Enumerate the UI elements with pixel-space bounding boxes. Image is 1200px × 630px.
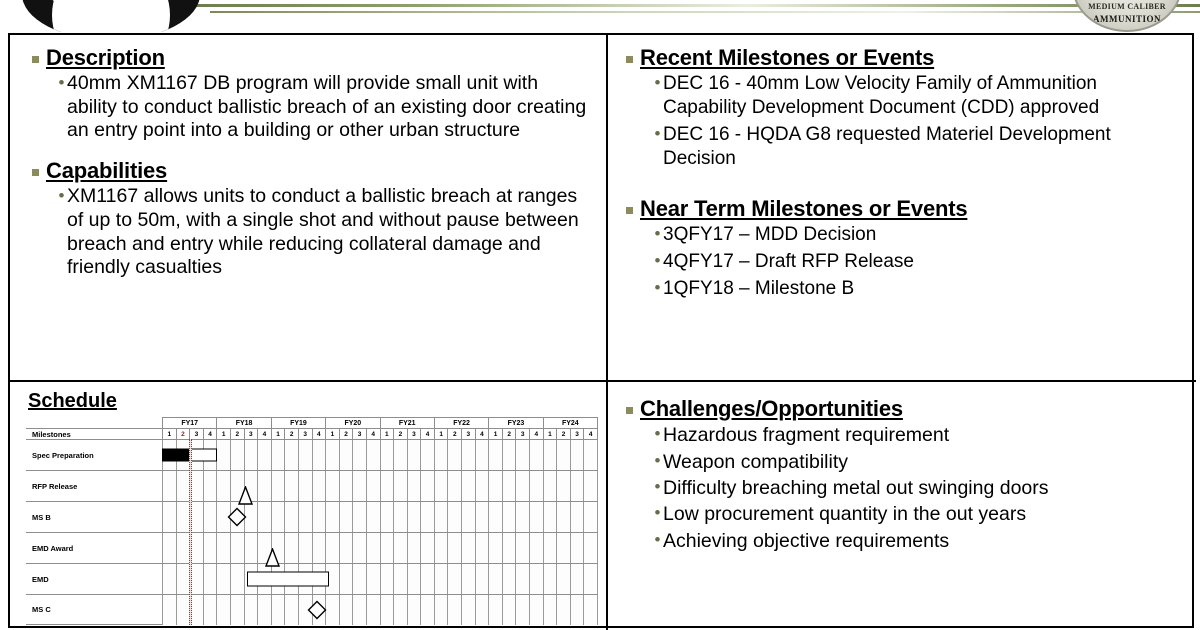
challenges-title: Challenges/Opportunities [640, 396, 903, 421]
seal-arc-label: ver Ammunition S [43, 0, 143, 19]
banner-stripe [195, 4, 1200, 7]
gantt-quarter-label: 2 [339, 428, 353, 439]
gantt-gridline [515, 564, 529, 594]
gantt-gridline [583, 440, 598, 470]
gantt-gridline [583, 471, 598, 501]
gantt-gridline [284, 502, 298, 532]
gantt-gridline [529, 533, 543, 563]
list-item: • 4QFY17 – Draft RFP Release [652, 250, 1184, 274]
panel-challenges: Challenges/Opportunities • Hazardous fra… [608, 382, 1194, 628]
description-bullet-list: • 40mm XM1167 DB program will provide sm… [32, 72, 592, 143]
gantt-gridline [475, 533, 489, 563]
gantt-gridline [529, 440, 543, 470]
gantt-quarter-label: 1 [434, 428, 448, 439]
gantt-gridline [162, 471, 176, 501]
gantt-quarter-label: 4 [529, 428, 543, 439]
gantt-gridline [352, 440, 366, 470]
round-bullet-icon: • [652, 123, 663, 144]
gantt-gridline [407, 471, 421, 501]
gantt-gridline [556, 595, 570, 625]
gantt-gridline [407, 533, 421, 563]
gantt-gridline [407, 502, 421, 532]
gantt-gridline [176, 595, 190, 625]
gantt-gridline [352, 564, 366, 594]
gantt-track-ms-b [162, 501, 598, 532]
gantt-quarter-label: 3 [189, 428, 203, 439]
list-item: • 1QFY18 – Milestone B [652, 277, 1184, 301]
square-bullet-icon [626, 207, 633, 214]
gantt-gridline [461, 564, 475, 594]
gantt-gridline [176, 471, 190, 501]
gantt-gridline [502, 471, 516, 501]
gantt-quarter-label: 2 [176, 428, 190, 439]
gantt-quarter-label: 2 [502, 428, 516, 439]
gantt-gridline [312, 533, 326, 563]
gantt-quarter-label: 4 [583, 428, 598, 439]
gantt-gridline [556, 471, 570, 501]
gantt-gridline [176, 564, 190, 594]
gantt-gridline [393, 595, 407, 625]
gantt-quarter-label: 3 [352, 428, 366, 439]
gantt-gridline [488, 595, 502, 625]
gantt-gridline [529, 471, 543, 501]
near-term-title: Near Term Milestones or Events [640, 196, 967, 221]
square-bullet-icon [626, 56, 633, 63]
gantt-label-ms-b: MS B [26, 501, 162, 532]
gantt-gridline [502, 533, 516, 563]
gantt-track-emd [162, 563, 598, 594]
gantt-label-spacer [26, 417, 162, 428]
gantt-gridline [407, 440, 421, 470]
gantt-fy-label-fy22: FY22 [434, 417, 488, 428]
gantt-gridline [216, 440, 230, 470]
gantt-fy-label-fy17: FY17 [162, 417, 216, 428]
list-item: • Difficulty breaching metal out swingin… [652, 476, 1184, 501]
gantt-gridline [339, 595, 353, 625]
gantt-gridline [298, 440, 312, 470]
gantt-track-ms-c [162, 594, 598, 625]
banner-stripe-secondary [210, 11, 1200, 13]
gantt-quarter-label: 4 [420, 428, 434, 439]
gantt-gridline [570, 533, 584, 563]
capabilities-heading: Capabilities [32, 158, 592, 183]
gantt-gridline [447, 502, 461, 532]
gantt-gridline [230, 595, 244, 625]
gantt-gridline [257, 471, 271, 501]
gantt-track-emd-award [162, 532, 598, 563]
gantt-quarter-label: 2 [447, 428, 461, 439]
gantt-gridline [271, 502, 285, 532]
gantt-gridline [515, 471, 529, 501]
round-bullet-icon: • [652, 476, 663, 497]
gantt-gridline [298, 533, 312, 563]
gantt-gridline [502, 595, 516, 625]
gantt-quarter-label: 1 [162, 428, 176, 439]
gantt-gridline [380, 595, 394, 625]
gantt-fiscal-year-header: FY17FY18FY19FY20FY21FY22FY23FY24 [162, 417, 598, 428]
gantt-quarter-label: 1 [488, 428, 502, 439]
gantt-fy-label-fy20: FY20 [325, 417, 379, 428]
gantt-quarter-label: 1 [216, 428, 230, 439]
gantt-gridlines [162, 440, 598, 470]
gantt-gridline [543, 533, 557, 563]
gantt-gridline [461, 595, 475, 625]
gantt-gridline [434, 502, 448, 532]
caliber-ammunition-seal-logo: ver Ammunition S [22, 0, 200, 32]
gantt-gridline [176, 502, 190, 532]
slide-content-grid: Description • 40mm XM1167 DB program wil… [8, 33, 1194, 628]
gantt-gridline [339, 564, 353, 594]
gantt-gridline [325, 502, 339, 532]
gantt-gridlines [162, 471, 598, 501]
list-item: • DEC 16 - 40mm Low Velocity Family of A… [652, 72, 1184, 120]
challenge-3: Difficulty breaching metal out swinging … [663, 476, 1184, 501]
gantt-gridline [393, 533, 407, 563]
gantt-gridline [352, 595, 366, 625]
gantt-gridline [257, 440, 271, 470]
gantt-gridline [556, 440, 570, 470]
challenge-5: Achieving objective requirements [663, 529, 1184, 554]
gantt-gridline [502, 564, 516, 594]
gantt-gridline [312, 440, 326, 470]
gantt-gridlines [162, 595, 598, 625]
gantt-gridline [162, 595, 176, 625]
challenge-1: Hazardous fragment requirement [663, 423, 1184, 448]
gantt-gridline [502, 440, 516, 470]
gantt-label-emd: EMD [26, 563, 162, 594]
gantt-gridline [203, 502, 217, 532]
gantt-gridline [352, 533, 366, 563]
capabilities-title: Capabilities [46, 158, 167, 183]
gantt-gridline [189, 564, 203, 594]
gantt-gridline [366, 502, 380, 532]
gantt-gridline [543, 502, 557, 532]
gantt-gridline [216, 595, 230, 625]
gantt-track-spec-preparation [162, 439, 598, 470]
list-item: • Low procurement quantity in the out ye… [652, 502, 1184, 527]
gantt-label-emd-award: EMD Award [26, 532, 162, 563]
gantt-gridline [393, 564, 407, 594]
gantt-gridline [312, 471, 326, 501]
gantt-gridline [244, 533, 258, 563]
gantt-gridline [271, 440, 285, 470]
schedule-title: Schedule [10, 382, 606, 417]
gantt-gridline [380, 440, 394, 470]
gantt-marker-diamond-ms-c [307, 601, 326, 620]
gantt-gridline [570, 502, 584, 532]
gantt-gridline [380, 502, 394, 532]
list-item: • DEC 16 - HQDA G8 requested Materiel De… [652, 123, 1184, 171]
gantt-gridline [162, 533, 176, 563]
gantt-gridline [475, 502, 489, 532]
gantt-gridline [257, 595, 271, 625]
gantt-gridline [407, 595, 421, 625]
description-heading: Description [32, 45, 592, 70]
section-challenges: Challenges/Opportunities • Hazardous fra… [608, 382, 1194, 554]
gantt-gridline [570, 595, 584, 625]
gantt-gridline [393, 440, 407, 470]
gantt-gridline [515, 440, 529, 470]
gantt-gridline [339, 502, 353, 532]
gantt-gridline [529, 595, 543, 625]
gantt-label-ms-c: MS C [26, 594, 162, 625]
gantt-gridline [284, 471, 298, 501]
gantt-quarter-label: 2 [230, 428, 244, 439]
gantt-fy-label-fy19: FY19 [271, 417, 325, 428]
gantt-gridline [162, 502, 176, 532]
gantt-gridline [271, 595, 285, 625]
gantt-quarter-label: 3 [461, 428, 475, 439]
gantt-gridline [203, 595, 217, 625]
gantt-gridline [284, 533, 298, 563]
gantt-gridline [583, 595, 598, 625]
square-bullet-icon [32, 169, 39, 176]
recent-milestones-title: Recent Milestones or Events [640, 45, 934, 70]
gantt-gridlines [162, 564, 598, 594]
gantt-gridline [271, 471, 285, 501]
gantt-gridline [176, 533, 190, 563]
gantt-chart: Milestones Spec Preparation RFP Release … [26, 417, 598, 625]
gantt-gridline [216, 564, 230, 594]
gantt-gridline [366, 440, 380, 470]
near-term-list: • 3QFY17 – MDD Decision • 4QFY17 – Draft… [626, 223, 1184, 301]
gantt-gridline [420, 440, 434, 470]
gantt-label-spec-preparation: Spec Preparation [26, 439, 162, 470]
gantt-quarter-label: 1 [325, 428, 339, 439]
panel-description: Description • 40mm XM1167 DB program wil… [10, 35, 606, 380]
gantt-gridline [420, 595, 434, 625]
gantt-gridline [284, 440, 298, 470]
gantt-quarter-label: 3 [244, 428, 258, 439]
gantt-gridline [434, 564, 448, 594]
gantt-gridline [189, 502, 203, 532]
gantt-gridline [556, 502, 570, 532]
gantt-bar-spec-prep-complete [162, 449, 189, 462]
gantt-gridline [529, 502, 543, 532]
gantt-gridline [325, 533, 339, 563]
gantt-gridline [570, 564, 584, 594]
gantt-gridline [230, 533, 244, 563]
challenges-list: • Hazardous fragment requirement • Weapo… [626, 423, 1184, 554]
round-bullet-icon: • [652, 529, 663, 550]
gantt-fy-label-fy21: FY21 [380, 417, 434, 428]
round-bullet-icon: • [652, 502, 663, 523]
gantt-row-labels: Milestones Spec Preparation RFP Release … [26, 417, 162, 625]
gantt-quarter-label: 1 [380, 428, 394, 439]
gantt-gridline [447, 471, 461, 501]
gantt-gridline [461, 502, 475, 532]
square-bullet-icon [32, 56, 39, 63]
gantt-gridline [407, 564, 421, 594]
gantt-quarter-header: 12341234123412341234123412341234 [162, 428, 598, 439]
gantt-gridline [447, 440, 461, 470]
gantt-gridline [475, 564, 489, 594]
gantt-gridline [570, 471, 584, 501]
gantt-track-rfp-release [162, 470, 598, 501]
gantt-gridline [543, 471, 557, 501]
gantt-fy-label-fy24: FY24 [543, 417, 598, 428]
gantt-gridline [434, 471, 448, 501]
gantt-gridline [230, 440, 244, 470]
badge-line-2: AMMUNITION [1074, 14, 1180, 24]
recent-milestone-2: DEC 16 - HQDA G8 requested Materiel Deve… [663, 123, 1184, 171]
gantt-gridline [339, 533, 353, 563]
gantt-gridline [515, 595, 529, 625]
gantt-quarter-label: 3 [515, 428, 529, 439]
gantt-bar-spec-prep-planned [189, 449, 216, 462]
gantt-quarter-label: 2 [284, 428, 298, 439]
gantt-label-rfp-release: RFP Release [26, 470, 162, 501]
gantt-gridline [366, 471, 380, 501]
gantt-gridline [556, 564, 570, 594]
gantt-gridline [393, 502, 407, 532]
gantt-gridline [420, 471, 434, 501]
gantt-gridlines [162, 533, 598, 563]
section-recent-milestones: Recent Milestones or Events • DEC 16 - 4… [608, 35, 1194, 171]
gantt-gridline [488, 440, 502, 470]
gantt-gridline [257, 502, 271, 532]
recent-milestone-1: DEC 16 - 40mm Low Velocity Family of Amm… [663, 72, 1184, 120]
recent-milestones-list: • DEC 16 - 40mm Low Velocity Family of A… [626, 72, 1184, 171]
description-bullet-1: 40mm XM1167 DB program will provide smal… [67, 72, 592, 143]
gantt-gridline [325, 440, 339, 470]
panel-schedule: Schedule Milestones Spec Preparation RFP… [10, 382, 606, 628]
gantt-gridline [434, 533, 448, 563]
gantt-quarter-label: 3 [407, 428, 421, 439]
gantt-gridline [312, 502, 326, 532]
list-item: • Hazardous fragment requirement [652, 423, 1184, 448]
gantt-gridline [162, 564, 176, 594]
gantt-gridline [244, 595, 258, 625]
gantt-quarter-label: 4 [366, 428, 380, 439]
gantt-quarter-label: 2 [556, 428, 570, 439]
gantt-gridline [420, 502, 434, 532]
gantt-quarter-label: 4 [475, 428, 489, 439]
near-term-heading: Near Term Milestones or Events [626, 196, 1184, 221]
capabilities-bullet-1: XM1167 allows units to conduct a ballist… [67, 185, 592, 279]
gantt-quarter-label: 4 [203, 428, 217, 439]
gantt-gridline [583, 564, 598, 594]
description-title: Description [46, 45, 165, 70]
list-item: • Weapon compatibility [652, 450, 1184, 475]
gantt-gridline [189, 533, 203, 563]
list-item: • XM1167 allows units to conduct a balli… [56, 185, 592, 279]
gantt-gridline [366, 595, 380, 625]
gantt-gridline [325, 595, 339, 625]
gantt-gridline [447, 564, 461, 594]
panel-milestones: Recent Milestones or Events • DEC 16 - 4… [608, 35, 1194, 380]
gantt-quarter-label: 1 [543, 428, 557, 439]
gantt-gridline [475, 595, 489, 625]
gantt-gridline [447, 533, 461, 563]
gantt-bar-emd [247, 572, 329, 587]
gantt-gridline [203, 533, 217, 563]
gantt-gridline [543, 440, 557, 470]
square-bullet-icon [626, 407, 633, 414]
near-term-2: 4QFY17 – Draft RFP Release [663, 250, 1184, 274]
gantt-gridline [352, 471, 366, 501]
challenges-heading: Challenges/Opportunities [626, 396, 1184, 421]
gantt-gridline [393, 471, 407, 501]
gantt-gridline [447, 595, 461, 625]
seal-arc-text: ver Ammunition S [28, 0, 194, 26]
section-capabilities: Capabilities • XM1167 allows units to co… [10, 144, 606, 280]
gantt-gridline [216, 533, 230, 563]
gantt-gridline [543, 595, 557, 625]
gantt-quarter-label: 4 [312, 428, 326, 439]
gantt-gridline [543, 564, 557, 594]
gantt-gridline [380, 533, 394, 563]
gantt-quarter-label: 3 [570, 428, 584, 439]
badge-line-1: MEDIUM CALIBER [1074, 2, 1180, 11]
gantt-gridline [488, 471, 502, 501]
gantt-gridline [420, 533, 434, 563]
gantt-quarter-label: 4 [257, 428, 271, 439]
gantt-gridline [488, 533, 502, 563]
gantt-gridline [515, 502, 529, 532]
list-item: • 3QFY17 – MDD Decision [652, 223, 1184, 247]
gantt-gridline [475, 440, 489, 470]
gantt-fy-label-fy23: FY23 [488, 417, 542, 428]
gantt-gridline [420, 564, 434, 594]
gantt-gridline [189, 595, 203, 625]
near-term-1: 3QFY17 – MDD Decision [663, 223, 1184, 247]
gantt-gridline [298, 471, 312, 501]
gantt-gridline [529, 564, 543, 594]
gantt-gridline [203, 471, 217, 501]
near-term-3: 1QFY18 – Milestone B [663, 277, 1184, 301]
gantt-gridline [230, 564, 244, 594]
gantt-gridline [434, 595, 448, 625]
gantt-gridline [339, 471, 353, 501]
gantt-gridline [502, 502, 516, 532]
gantt-gridline [461, 471, 475, 501]
round-bullet-icon: • [652, 423, 663, 444]
gantt-fy-label-fy18: FY18 [216, 417, 270, 428]
gantt-quarter-label: 3 [298, 428, 312, 439]
round-bullet-icon: • [652, 72, 663, 93]
gantt-gridline [352, 502, 366, 532]
gantt-gridline [284, 595, 298, 625]
gantt-marker-diamond-ms-b [227, 508, 246, 527]
round-bullet-icon: • [652, 223, 663, 244]
section-near-term-milestones: Near Term Milestones or Events • 3QFY17 … [608, 174, 1194, 301]
gantt-gridline [556, 533, 570, 563]
gantt-gridline [583, 502, 598, 532]
gantt-gridline [515, 533, 529, 563]
gantt-label-milestones: Milestones [26, 428, 162, 439]
gantt-gridline [461, 440, 475, 470]
gantt-gridline [583, 533, 598, 563]
round-bullet-icon: • [652, 277, 663, 298]
round-bullet-icon: • [652, 250, 663, 271]
gantt-gridline [339, 440, 353, 470]
gantt-gridline [380, 471, 394, 501]
gantt-gridline [461, 533, 475, 563]
capabilities-bullet-list: • XM1167 allows units to conduct a balli… [32, 185, 592, 279]
gantt-gridline [366, 533, 380, 563]
gantt-gridline [189, 471, 203, 501]
gantt-quarter-label: 1 [271, 428, 285, 439]
gantt-gridline [488, 502, 502, 532]
gantt-timeline-body: FY17FY18FY19FY20FY21FY22FY23FY24 1234123… [162, 417, 598, 625]
list-item: • Achieving objective requirements [652, 529, 1184, 554]
gantt-gridline [244, 440, 258, 470]
gantt-gridline [216, 471, 230, 501]
section-description: Description • 40mm XM1167 DB program wil… [10, 35, 606, 143]
gantt-gridline [570, 440, 584, 470]
slide-banner: ver Ammunition S MEDIUM CALIBER AMMUNITI… [0, 0, 1200, 32]
